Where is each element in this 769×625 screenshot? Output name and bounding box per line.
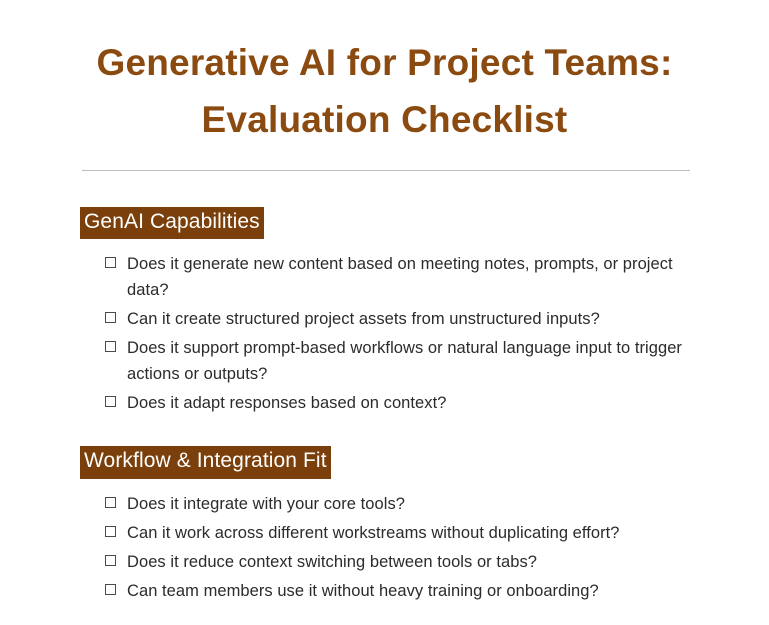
checkbox-icon[interactable] [105, 257, 116, 268]
checkbox-icon[interactable] [105, 526, 116, 537]
title-line-1: Generative AI for Project Teams: [0, 34, 769, 91]
checkbox-icon[interactable] [105, 497, 116, 508]
section-heading-workflow-integration-fit: Workflow & Integration Fit [80, 446, 331, 478]
checklist-document: Generative AI for Project Teams: Evaluat… [0, 0, 769, 625]
divider-container [0, 148, 769, 171]
document-title: Generative AI for Project Teams: Evaluat… [0, 0, 769, 148]
checklist-sections: GenAI Capabilities Does it generate new … [0, 171, 769, 604]
checklist-item[interactable]: Can it create structured project assets … [105, 306, 699, 332]
checklist-item-label: Does it support prompt-based workflows o… [127, 335, 699, 387]
checklist-item-label: Can team members use it without heavy tr… [127, 578, 699, 604]
checklist-item-label: Does it reduce context switching between… [127, 549, 699, 575]
checkbox-icon[interactable] [105, 584, 116, 595]
section-genai-capabilities: GenAI Capabilities Does it generate new … [0, 207, 769, 416]
checklist-item-label: Does it integrate with your core tools? [127, 491, 699, 517]
checklist-item[interactable]: Does it integrate with your core tools? [105, 491, 699, 517]
checkbox-icon[interactable] [105, 312, 116, 323]
checklist-item[interactable]: Can it work across different workstreams… [105, 520, 699, 546]
checklist-item[interactable]: Does it support prompt-based workflows o… [105, 335, 699, 387]
checklist-item-label: Does it generate new content based on me… [127, 251, 699, 303]
checklist-item-label: Does it adapt responses based on context… [127, 390, 699, 416]
checklist-item[interactable]: Does it adapt responses based on context… [105, 390, 699, 416]
section-workflow-integration-fit: Workflow & Integration Fit Does it integ… [0, 446, 769, 603]
checklist-item-label: Can it create structured project assets … [127, 306, 699, 332]
checklist-item[interactable]: Can team members use it without heavy tr… [105, 578, 699, 604]
checklist-items-workflow-integration-fit: Does it integrate with your core tools? … [0, 491, 769, 604]
section-heading-genai-capabilities: GenAI Capabilities [80, 207, 264, 239]
title-line-2: Evaluation Checklist [0, 91, 769, 148]
checklist-item-label: Can it work across different workstreams… [127, 520, 699, 546]
checkbox-icon[interactable] [105, 341, 116, 352]
checklist-items-genai-capabilities: Does it generate new content based on me… [0, 251, 769, 416]
checklist-item[interactable]: Does it generate new content based on me… [105, 251, 699, 303]
checkbox-icon[interactable] [105, 396, 116, 407]
checkbox-icon[interactable] [105, 555, 116, 566]
checklist-item[interactable]: Does it reduce context switching between… [105, 549, 699, 575]
